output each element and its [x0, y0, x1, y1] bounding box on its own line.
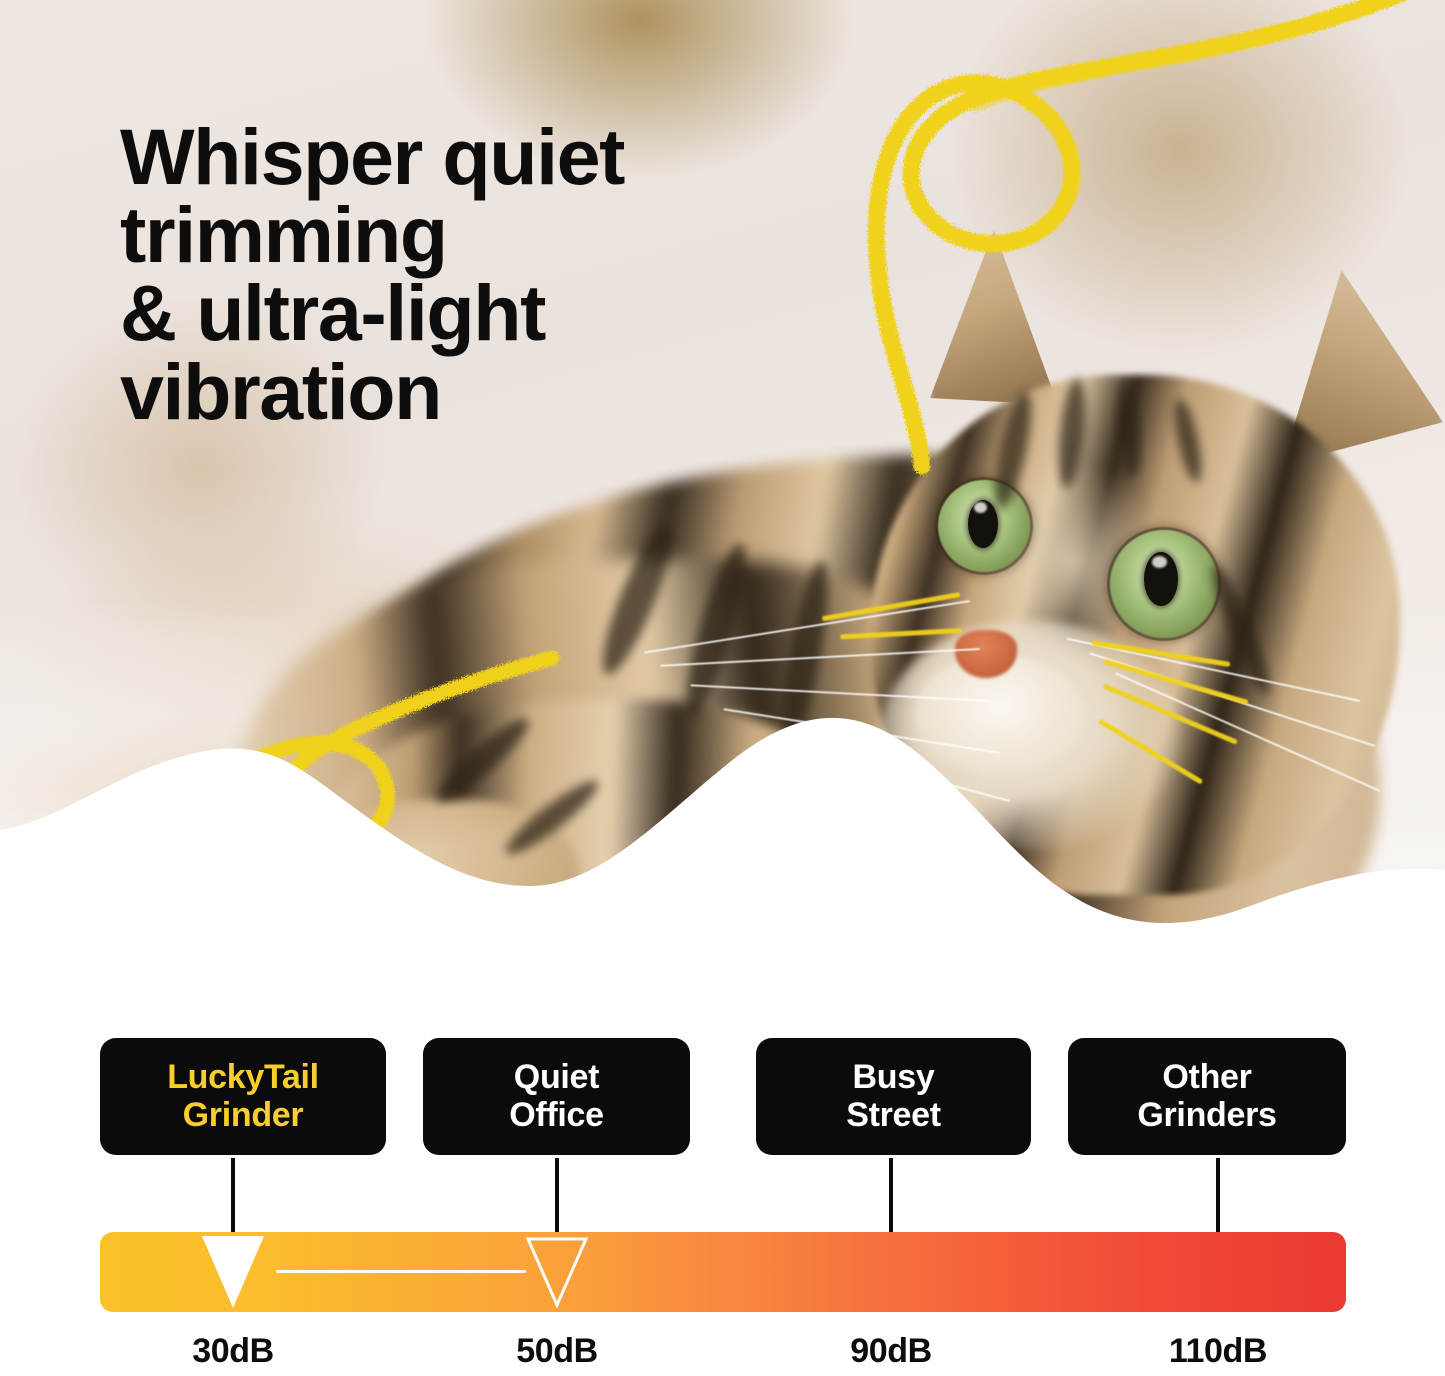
- connector-line-110db: [1216, 1158, 1220, 1234]
- badge-label-line-2: Street: [846, 1097, 941, 1134]
- db-label-110: 110dB: [1169, 1332, 1267, 1371]
- headline-line-1: Whisper quiet: [120, 118, 800, 196]
- cat-ear-left: [930, 230, 1058, 405]
- db-label-50: 50dB: [516, 1332, 598, 1371]
- marker-filled-triangle-30db: [202, 1236, 264, 1308]
- headline-line-3: & ultra-light: [120, 274, 800, 352]
- white-wave-divider: [0, 710, 1445, 1010]
- gradient-scale-bar-wrap: [0, 1232, 1445, 1314]
- scale-badges: LuckyTail Grinder Quiet Office Busy Stre…: [0, 1038, 1445, 1158]
- marker-outlined-triangle-50db: [526, 1236, 588, 1308]
- infographic-stage: Whisper quiet trimming & ultra-light vib…: [0, 0, 1445, 1376]
- db-label-90: 90dB: [850, 1332, 932, 1371]
- badge-label-line-2: Grinders: [1137, 1097, 1276, 1134]
- db-tick-labels: 30dB 50dB 90dB 110dB: [0, 1332, 1445, 1376]
- badge-label-line-1: Quiet: [509, 1059, 604, 1096]
- noise-scale-chart: LuckyTail Grinder Quiet Office Busy Stre…: [0, 1020, 1445, 1376]
- connector-line-50db: [555, 1158, 559, 1234]
- badge-label-line-1: Busy: [846, 1059, 941, 1096]
- gradient-scale-bar: [100, 1232, 1346, 1312]
- badge-busy-street: Busy Street: [756, 1038, 1031, 1155]
- connector-line-90db: [889, 1158, 893, 1234]
- badge-label-line-2: Grinder: [167, 1097, 319, 1134]
- badge-label-line-1: Other: [1137, 1059, 1276, 1096]
- badge-other-grinders: Other Grinders: [1068, 1038, 1346, 1155]
- cat-eye-glint-right: [1152, 556, 1167, 568]
- connector-line-30db: [231, 1158, 235, 1234]
- page-title: Whisper quiet trimming & ultra-light vib…: [120, 118, 800, 431]
- badge-label-line-1: LuckyTail: [167, 1059, 319, 1096]
- badge-connectors: [0, 1158, 1445, 1234]
- badge-luckytail-grinder: LuckyTail Grinder: [100, 1038, 386, 1155]
- headline-line-4: vibration: [120, 353, 800, 431]
- headline-line-2: trimming: [120, 196, 800, 274]
- cat-eye-glint-left: [974, 502, 987, 513]
- db-label-30: 30dB: [192, 1332, 274, 1371]
- badge-label-line-2: Office: [509, 1097, 604, 1134]
- badge-quiet-office: Quiet Office: [423, 1038, 690, 1155]
- marker-connector-line: [276, 1270, 526, 1273]
